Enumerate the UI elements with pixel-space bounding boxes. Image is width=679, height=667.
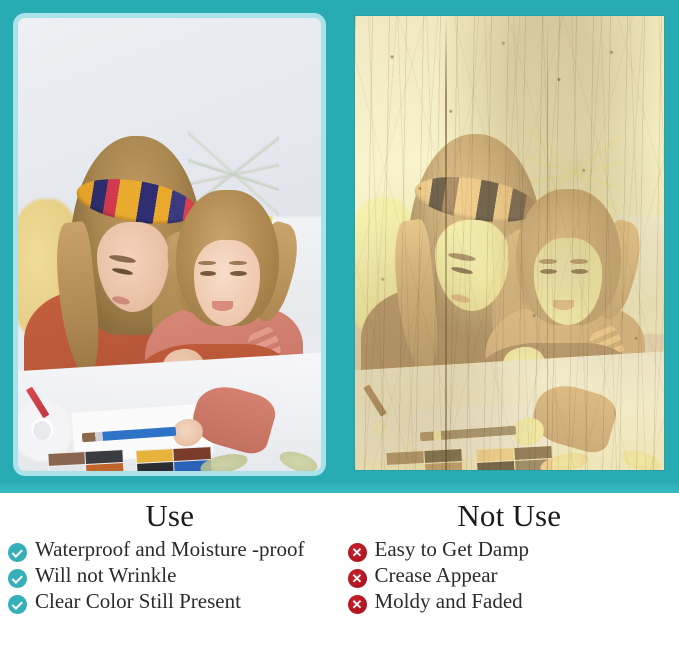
check-circle-icon (8, 569, 27, 588)
list-item-label: Clear Color Still Present (35, 590, 336, 614)
list-item: Waterproof and Moisture -proof (0, 537, 340, 563)
girl-eye-right (230, 271, 247, 276)
use-column-title: Use (0, 493, 340, 531)
use-column: Use Waterproof and Moisture -proof Will … (0, 493, 340, 667)
girl-smile (553, 300, 575, 310)
not-use-column: Not Use Easy to Get Damp Crease Appear M… (340, 493, 679, 667)
list-item-label: Waterproof and Moisture -proof (35, 538, 336, 562)
check-circle-icon (8, 595, 27, 614)
not-use-drawbacks-list: Easy to Get Damp Crease Appear Moldy and… (340, 537, 679, 615)
swatch (476, 448, 514, 462)
swatch (87, 463, 124, 471)
swatch (137, 462, 174, 471)
cross-circle-icon (348, 569, 367, 588)
girl-eye-left (200, 271, 217, 276)
photo-scene-good (18, 18, 321, 471)
list-item-label: Easy to Get Damp (375, 538, 676, 562)
list-item: Moldy and Faded (340, 589, 679, 615)
swatch (49, 452, 86, 466)
swatch (425, 462, 463, 470)
comparison-table: Use Waterproof and Moisture -proof Will … (0, 493, 679, 667)
good-condition-photo (13, 13, 326, 476)
list-item: Crease Appear (340, 563, 679, 589)
list-item-label: Will not Wrinkle (35, 564, 336, 588)
comparison-infographic: Use Waterproof and Moisture -proof Will … (0, 0, 679, 667)
swatch (137, 449, 174, 463)
list-item: Will not Wrinkle (0, 563, 340, 589)
swatch (386, 451, 424, 465)
photo-scene-damaged (355, 16, 664, 470)
girl-eyebrow-left (539, 259, 558, 264)
list-item-label: Moldy and Faded (375, 590, 676, 614)
swatch (86, 450, 123, 464)
girl-eyebrow-right (570, 259, 589, 264)
swatch (477, 461, 515, 470)
not-use-column-title: Not Use (340, 493, 679, 531)
watercolor-set-1 (48, 449, 125, 471)
damaged-photo (355, 16, 664, 470)
cross-circle-icon (348, 595, 367, 614)
check-circle-icon (8, 543, 27, 562)
list-item: Easy to Get Damp (340, 537, 679, 563)
list-item-label: Crease Appear (375, 564, 676, 588)
swatch (514, 446, 552, 460)
use-benefits-list: Waterproof and Moisture -proof Will not … (0, 537, 340, 615)
swatch (424, 449, 462, 463)
cross-circle-icon (348, 543, 367, 562)
watercolor-set-1 (385, 448, 464, 470)
list-item: Clear Color Still Present (0, 589, 340, 615)
swatch (174, 447, 211, 461)
